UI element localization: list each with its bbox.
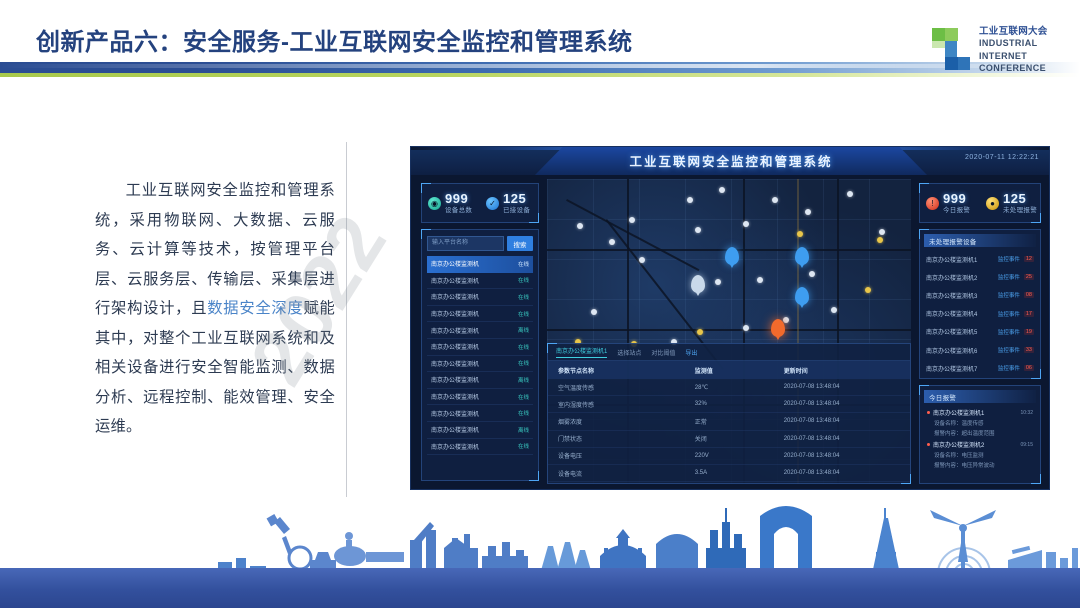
list-item[interactable]: 南京办公楼监测机 在线	[427, 356, 533, 373]
header-band-sheen	[0, 64, 1080, 68]
table-row[interactable]: 门禁状态 关闭 2020-07-08 13:48:04	[548, 431, 910, 448]
device-name: 南京办公楼监测机	[431, 259, 479, 268]
device-name: 南京办公楼监测机	[431, 326, 479, 335]
alarm-row[interactable]: 南京办公楼监测机2 监控事件 25	[920, 268, 1040, 286]
alarm-row[interactable]: 南京办公楼监测机6 监控事件 33	[920, 341, 1040, 359]
alarm-device-name: 南京办公楼监测机3	[926, 291, 998, 300]
cell-value: 关闭	[695, 434, 784, 443]
list-item[interactable]: 南京办公楼监测机 离线	[427, 422, 533, 439]
cell-value: 32%	[695, 401, 784, 407]
map-marker[interactable]	[629, 217, 635, 223]
alarm-dot-icon	[927, 411, 930, 414]
list-item[interactable]: 南京办公楼监测机 在线	[427, 439, 533, 456]
device-name: 南京办公楼监测机	[431, 409, 479, 418]
alarm-icon: !	[926, 197, 939, 210]
device-status: 离线	[518, 376, 529, 384]
stat-label: 今日报警	[943, 208, 970, 215]
map-marker[interactable]	[715, 279, 721, 285]
map-marker[interactable]	[831, 307, 837, 313]
cell-updated: 2020-07-08 13:48:04	[784, 436, 900, 442]
map-pin-device[interactable]	[725, 247, 739, 265]
stat-item: ● 125 未处理报警	[980, 192, 1040, 215]
alarm-row[interactable]: 南京办公楼监测机3 监控事件 08	[920, 286, 1040, 304]
alarm-row[interactable]: 南京办公楼监测机1 监控事件 12	[920, 250, 1040, 268]
stats-card-right: ! 999 今日报警 ● 125 未处理报警	[919, 183, 1041, 223]
stat-label: 设备总数	[445, 208, 472, 215]
cell-updated: 2020-07-08 13:48:04	[784, 401, 900, 407]
warning-icon: ●	[986, 197, 999, 210]
search-row: 输入平台名称 搜索	[427, 236, 533, 251]
device-name: 南京办公楼监测机	[431, 442, 479, 451]
alarm-count: 06	[1024, 365, 1034, 371]
tab-export[interactable]: 导出	[685, 348, 697, 357]
cell-value: 220V	[695, 453, 784, 459]
search-button[interactable]: 搜索	[507, 236, 533, 251]
map-marker[interactable]	[743, 221, 749, 227]
map-marker[interactable]	[757, 277, 763, 283]
timeline-time: 10:32	[1020, 410, 1033, 416]
timeline-sub-1: 设备名称：温度传感	[934, 419, 1033, 427]
alarm-row[interactable]: 南京办公楼监测机4 监控事件 17	[920, 305, 1040, 323]
header-band-green	[0, 73, 1080, 77]
description-part-2: 赋能其中，对整个工业互联网系统和及相关设备进行安全智能监测、数据分析、远程控制、…	[95, 300, 335, 435]
footer-water-band	[0, 568, 1080, 608]
alarm-row[interactable]: 南京办公楼监测机5 监控事件 19	[920, 323, 1040, 341]
list-item[interactable]: 南京办公楼监测机 在线	[427, 306, 533, 323]
map-marker[interactable]	[577, 223, 583, 229]
alarm-panel-header: 未处理报警设备	[924, 234, 1036, 247]
map-pin-device[interactable]	[795, 287, 809, 305]
alarm-tag: 监控事件	[998, 255, 1020, 263]
timeline-item[interactable]: 南京办公楼监测机2 09:15 设备名称：电压监测 报警内容：电压异常波动	[920, 438, 1040, 470]
timeline-time: 09:15	[1020, 442, 1033, 448]
check-icon: ✓	[486, 197, 499, 210]
stat-value: 125	[1003, 192, 1037, 205]
dashboard-clock: 2020-07-11 12:22:21	[965, 154, 1039, 161]
map-road	[547, 329, 911, 331]
alarm-row[interactable]: 南京办公楼监测机7 监控事件 06	[920, 359, 1040, 377]
device-list-panel: 输入平台名称 搜索 南京办公楼监测机 在线 南京办公楼监测机 在线 南京办公楼监…	[421, 229, 539, 481]
table-header-row: 参数节点名称 监测值 更新时间	[548, 361, 910, 379]
map-pin-device[interactable]	[795, 247, 809, 265]
alarm-tag: 监控事件	[998, 291, 1020, 299]
cell-updated: 2020-07-08 13:48:04	[784, 384, 900, 390]
description-highlight: 数据安全深度	[207, 300, 303, 317]
list-item[interactable]: 南京办公楼监测机 在线	[427, 339, 533, 356]
tab-compare-threshold[interactable]: 对比阈值	[651, 348, 675, 357]
alarm-tag: 监控事件	[998, 273, 1020, 281]
column-header-updated: 更新时间	[784, 366, 900, 375]
map-marker-warning[interactable]	[797, 231, 803, 237]
map-pin-device[interactable]	[691, 275, 705, 293]
alarm-count: 33	[1024, 347, 1034, 353]
map-marker[interactable]	[783, 317, 789, 323]
map-marker[interactable]	[719, 187, 725, 193]
dashboard-title: 工业互联网安全监控和管理系统	[411, 151, 1050, 170]
column-header-node-name: 参数节点名称	[558, 366, 695, 375]
device-status: 离线	[518, 326, 529, 334]
timeline-title: 南京办公楼监测机2	[933, 440, 1020, 449]
description-part-1: 工业互联网安全监控和管理系统，采用物联网、大数据、云服务、云计算等技术，按管理平…	[95, 182, 335, 317]
device-name: 南京办公楼监测机	[431, 375, 479, 384]
device-status: 在线	[518, 359, 529, 367]
industrial-internet-i-icon	[930, 25, 972, 73]
stats-card-left: ◉ 999 设备总数 ✓ 125 已接设备	[421, 183, 539, 223]
cell-node-name: 门禁状态	[558, 434, 695, 443]
device-status: 在线	[518, 260, 529, 268]
device-status: 在线	[518, 293, 529, 301]
city-skyline-illustration	[0, 500, 1080, 574]
alarm-device-name: 南京办公楼监测机4	[926, 309, 998, 318]
timeline-item[interactable]: 南京办公楼监测机1 10:32 设备名称：温度传感 报警内容：超出温度范围	[920, 406, 1040, 438]
device-status: 在线	[518, 343, 529, 351]
map-marker-warning[interactable]	[877, 237, 883, 243]
table-row[interactable]: 空气温度传感 28℃ 2020-07-08 13:48:04	[548, 379, 910, 396]
parameter-table-panel: 南京办公楼监测机1 选择站点 对比阈值 导出 参数节点名称 监测值 更新时间 空…	[547, 343, 911, 484]
alarm-dot-icon	[927, 443, 930, 446]
tab-selected-device[interactable]: 南京办公楼监测机1	[556, 346, 607, 358]
tab-select-site[interactable]: 选择站点	[617, 348, 641, 357]
today-alarm-panel: 今日报警 南京办公楼监测机1 10:32 设备名称：温度传感 报警内容：超出温度…	[919, 385, 1041, 484]
cell-updated: 2020-07-08 13:48:04	[784, 453, 900, 459]
cell-node-name: 设备电流	[558, 469, 695, 478]
description-block: 工业互联网安全监控和管理系统，采用物联网、大数据、云服务、云计算等技术，按管理平…	[95, 176, 335, 442]
list-item[interactable]: 南京办公楼监测机 离线	[427, 322, 533, 339]
list-item[interactable]: 南京办公楼监测机 在线	[427, 273, 533, 290]
stat-item: ✓ 125 已接设备	[480, 192, 538, 215]
alarm-device-name: 南京办公楼监测机2	[926, 273, 998, 282]
device-status: 在线	[518, 409, 529, 417]
cell-value: 正常	[695, 417, 784, 426]
logo-chinese-name: 工业互联网大会	[979, 23, 1048, 37]
unhandled-alarm-panel: 未处理报警设备 南京办公楼监测机1 监控事件 12 南京办公楼监测机2 监控事件…	[919, 229, 1041, 379]
conference-logo: 工业互联网大会 INDUSTRIAL INTERNET CONFERENCE	[930, 20, 1070, 78]
cell-node-name: 设备电压	[558, 451, 695, 460]
map-marker[interactable]	[687, 197, 693, 203]
description-paragraph: 工业互联网安全监控和管理系统，采用物联网、大数据、云服务、云计算等技术，按管理平…	[95, 176, 335, 442]
alarm-tag: 监控事件	[998, 310, 1020, 318]
map-marker[interactable]	[743, 325, 749, 331]
map-marker-warning[interactable]	[865, 287, 871, 293]
map-marker[interactable]	[809, 271, 815, 277]
device-status: 离线	[518, 426, 529, 434]
map-marker[interactable]	[879, 229, 885, 235]
alarm-count: 25	[1024, 274, 1034, 280]
vertical-divider	[346, 142, 347, 497]
column-header-value: 监测值	[695, 366, 784, 375]
map-marker[interactable]	[639, 257, 645, 263]
alarm-count: 12	[1024, 256, 1034, 262]
today-panel-header: 今日报警	[924, 390, 1036, 403]
stat-item: ◉ 999 设备总数	[422, 192, 480, 215]
list-item[interactable]: 南京办公楼监测机 在线	[427, 389, 533, 406]
logo-line-conference: CONFERENCE	[979, 63, 1048, 75]
stat-value: 999	[445, 192, 472, 205]
alarm-count: 19	[1024, 329, 1034, 335]
cell-node-name: 烟雾浓度	[558, 417, 695, 426]
device-icon: ◉	[428, 197, 441, 210]
dashboard-screenshot: 工业互联网安全监控和管理系统 2020-07-11 12:22:21	[410, 146, 1050, 490]
alarm-count: 17	[1024, 311, 1034, 317]
stat-item: ! 999 今日报警	[920, 192, 980, 215]
alarm-tag: 监控事件	[998, 328, 1020, 336]
search-input[interactable]: 输入平台名称	[427, 236, 504, 251]
alarm-device-name: 南京办公楼监测机6	[926, 346, 998, 355]
alarm-device-name: 南京办公楼监测机7	[926, 364, 998, 373]
timeline-title: 南京办公楼监测机1	[933, 408, 1020, 417]
alarm-tag: 监控事件	[998, 364, 1020, 372]
device-name: 南京办公楼监测机	[431, 309, 479, 318]
list-item[interactable]: 南京办公楼监测机 在线	[427, 256, 533, 273]
map-marker[interactable]	[805, 209, 811, 215]
timeline-sub-2: 报警内容：超出温度范围	[934, 429, 1033, 437]
table-row[interactable]: 烟雾浓度 正常 2020-07-08 13:48:04	[548, 413, 910, 430]
table-row[interactable]: 设备电压 220V 2020-07-08 13:48:04	[548, 448, 910, 465]
device-name: 南京办公楼监测机	[431, 359, 479, 368]
device-status: 在线	[518, 276, 529, 284]
stat-value: 125	[503, 192, 530, 205]
cell-node-name: 空气温度传感	[558, 383, 695, 392]
device-status: 在线	[518, 393, 529, 401]
page-title: 创新产品六：安全服务-工业互联网安全监控和管理系统	[36, 22, 633, 57]
cell-node-name: 室内湿度传感	[558, 400, 695, 409]
cell-updated: 2020-07-08 13:48:04	[784, 418, 900, 424]
alarm-device-name: 南京办公楼监测机1	[926, 255, 998, 264]
map-marker[interactable]	[847, 191, 853, 197]
timeline-sub-2: 报警内容：电压异常波动	[934, 461, 1033, 469]
device-name: 南京办公楼监测机	[431, 276, 479, 285]
logo-line-internet: INTERNET	[979, 51, 1048, 63]
device-name: 南京办公楼监测机	[431, 342, 479, 351]
cell-value: 28℃	[695, 384, 784, 391]
device-status: 在线	[518, 442, 529, 450]
device-status: 在线	[518, 310, 529, 318]
stat-label: 未处理报警	[1003, 208, 1037, 215]
list-item[interactable]: 南京办公楼监测机 在线	[427, 289, 533, 306]
device-name: 南京办公楼监测机	[431, 392, 479, 401]
table-row[interactable]: 设备电流 3.5A 2020-07-08 13:48:04	[548, 465, 910, 482]
alarm-device-name: 南京办公楼监测机5	[926, 327, 998, 336]
stat-value: 999	[943, 192, 970, 205]
map-marker[interactable]	[591, 309, 597, 315]
logo-line-industrial: INDUSTRIAL	[979, 38, 1048, 50]
alarm-tag: 监控事件	[998, 346, 1020, 354]
table-row[interactable]: 室内湿度传感 32% 2020-07-08 13:48:04	[548, 396, 910, 413]
cell-value: 3.5A	[695, 470, 784, 476]
map-marker[interactable]	[772, 197, 778, 203]
map-marker-warning[interactable]	[697, 329, 703, 335]
list-item[interactable]: 南京办公楼监测机 离线	[427, 372, 533, 389]
device-list: 南京办公楼监测机 在线 南京办公楼监测机 在线 南京办公楼监测机 在线 南京办公…	[427, 256, 533, 455]
map-marker[interactable]	[695, 227, 701, 233]
map-marker[interactable]	[609, 239, 615, 245]
device-name: 南京办公楼监测机	[431, 425, 479, 434]
timeline-sub-1: 设备名称：电压监测	[934, 451, 1033, 459]
map-pin-alarm[interactable]	[771, 319, 785, 337]
device-name: 南京办公楼监测机	[431, 292, 479, 301]
table-tabs: 南京办公楼监测机1 选择站点 对比阈值 导出	[548, 344, 910, 361]
cell-updated: 2020-07-08 13:48:04	[784, 470, 900, 476]
alarm-count: 08	[1024, 292, 1034, 298]
list-item[interactable]: 南京办公楼监测机 在线	[427, 405, 533, 422]
stat-label: 已接设备	[503, 208, 530, 215]
